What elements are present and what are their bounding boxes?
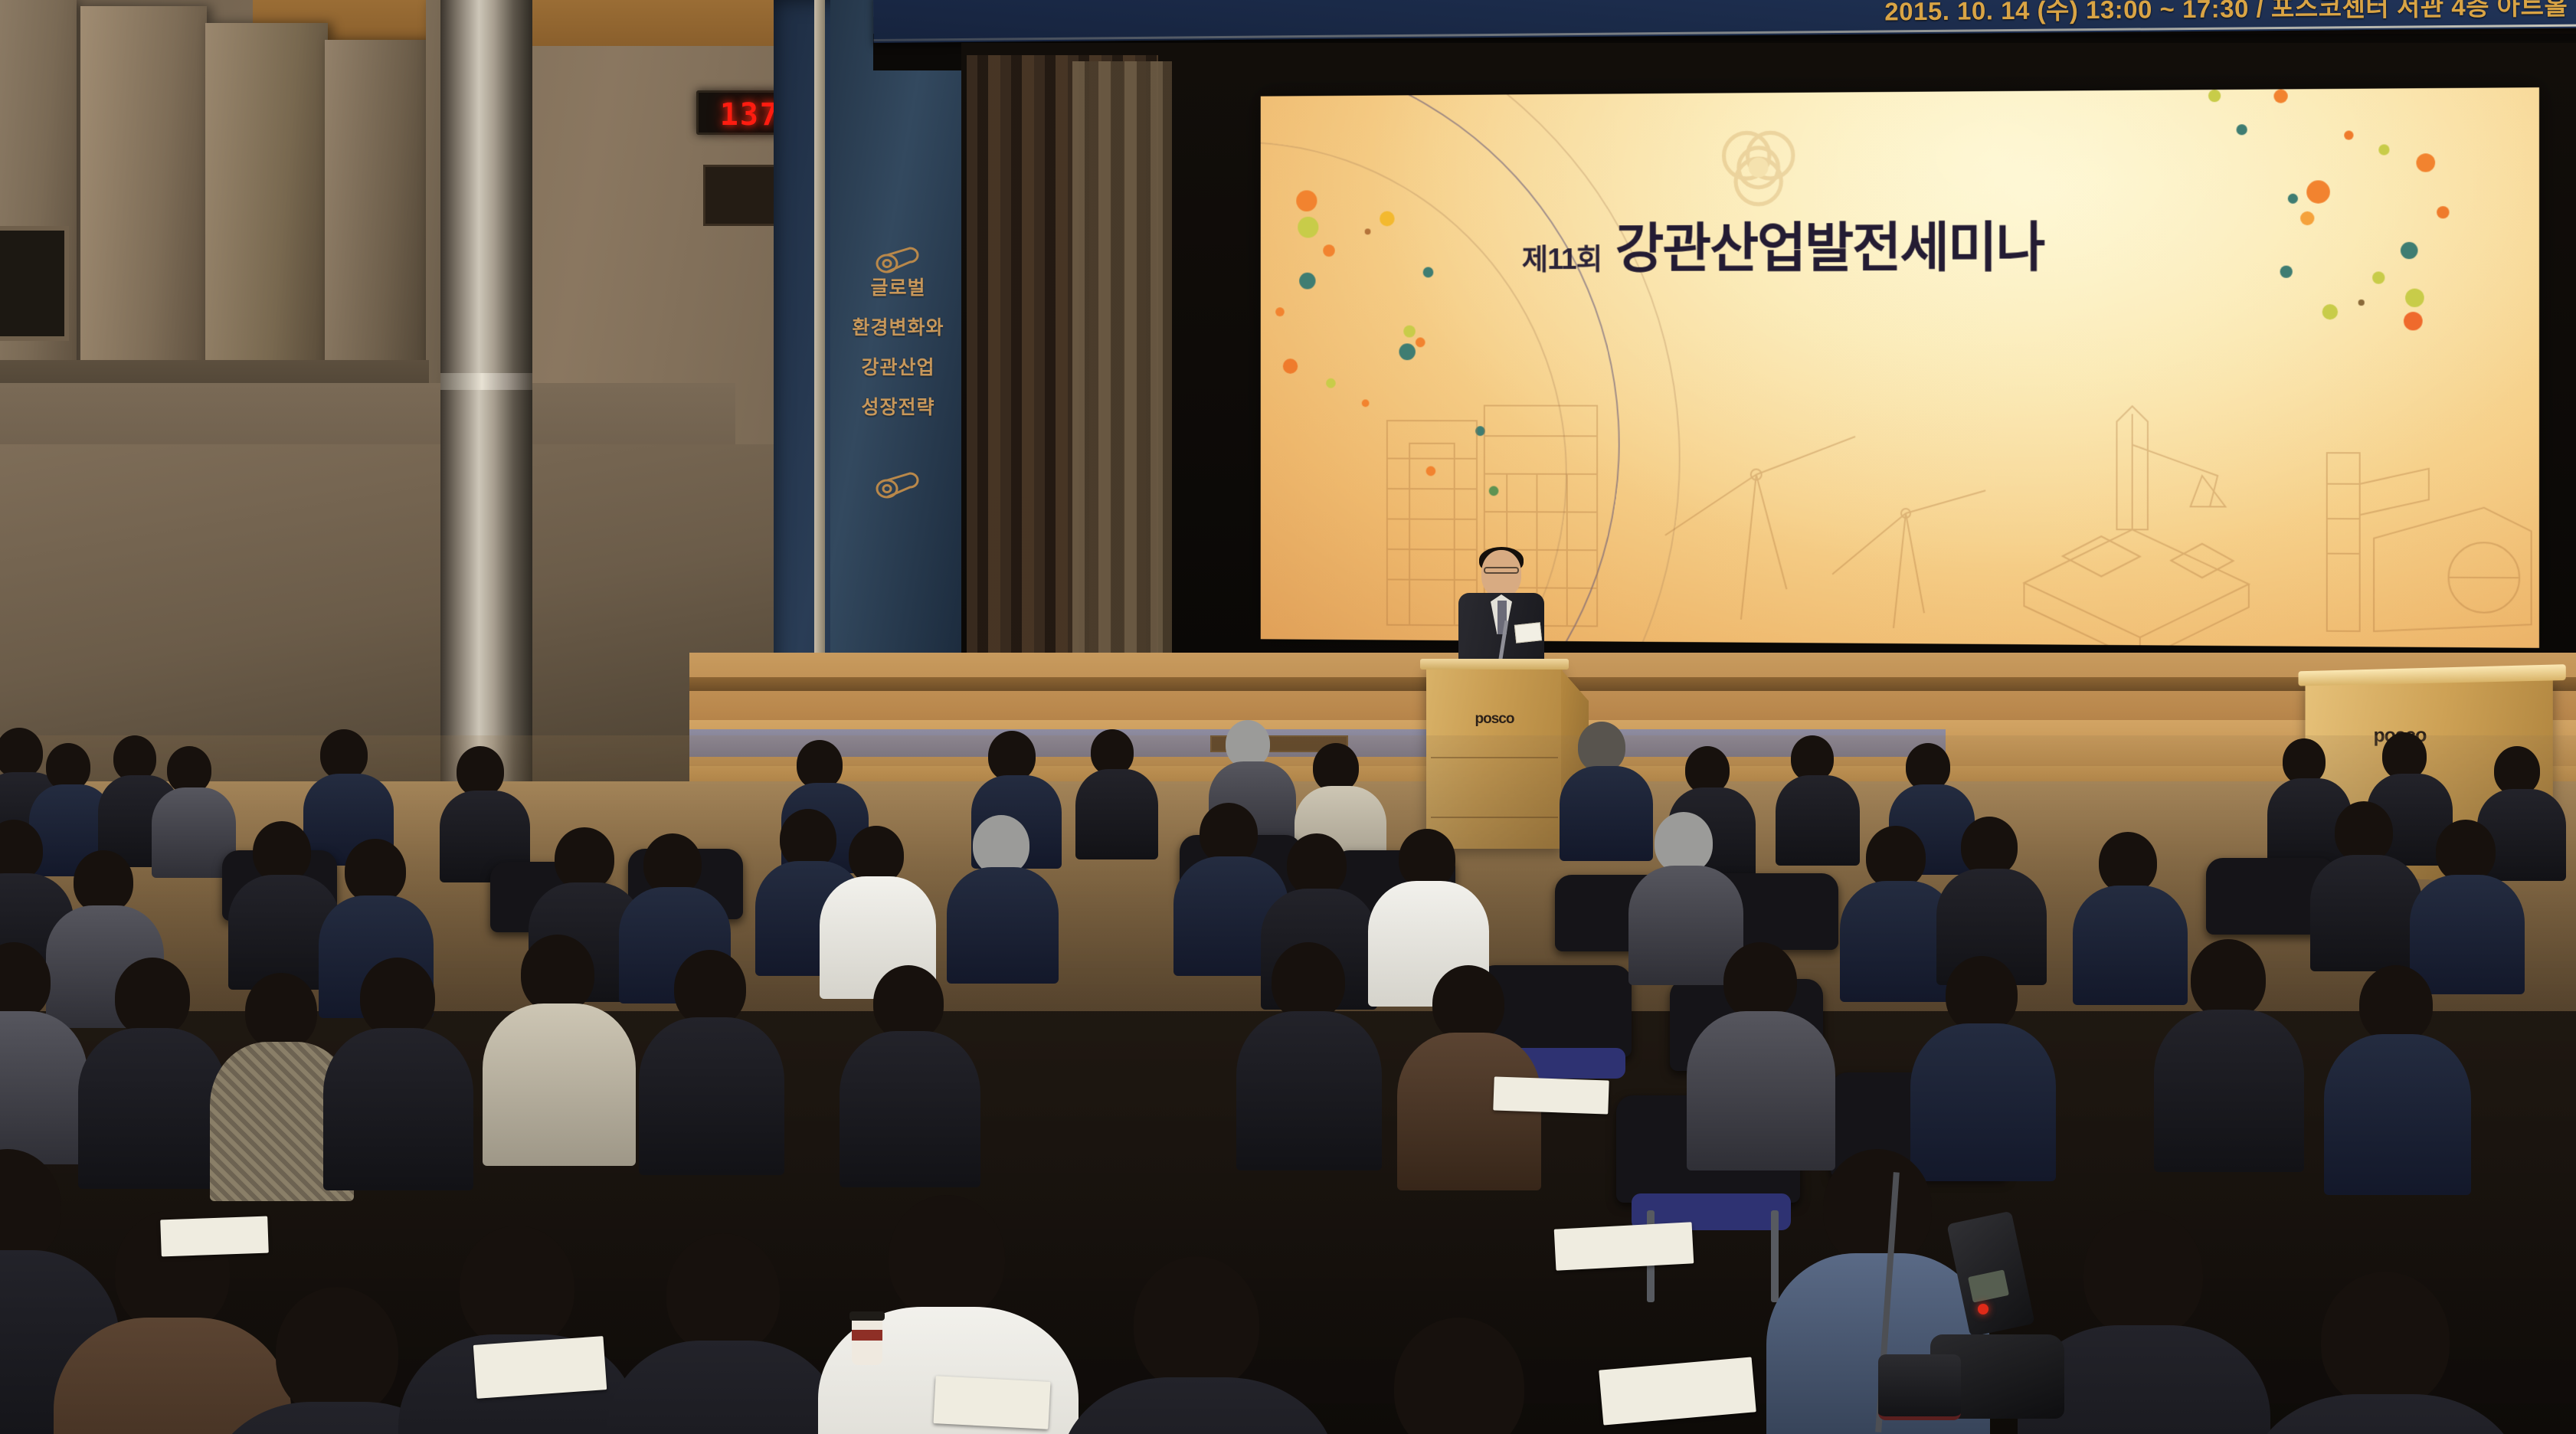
accent-dot [1275, 307, 1285, 316]
steel-column [440, 0, 532, 789]
presenter-head [1481, 550, 1521, 597]
accent-dot [1423, 267, 1434, 278]
dslr-camera-lens [1878, 1354, 1961, 1420]
flash-af-lamp-icon [1978, 1304, 1988, 1314]
accent-dot [2273, 89, 2287, 103]
accent-dot [2404, 312, 2423, 330]
banner-line-1: 글로벌 [835, 268, 961, 308]
accent-dot [1323, 244, 1335, 257]
accent-dot [1380, 211, 1394, 227]
vertical-banner-text: 글로벌 환경변화와 강관산업 성장전략 [835, 268, 961, 427]
glasses-icon [1484, 567, 1519, 574]
acoustic-panel [0, 0, 77, 406]
screen-title-prefix: 제11회 [1522, 235, 1602, 283]
coffee-cup-lid [849, 1311, 885, 1321]
projection-screen: 제11회 강관산업발전세미나 [1261, 87, 2539, 648]
led-clock-value: 137 [720, 97, 780, 133]
printed-handout [473, 1336, 607, 1399]
accent-dot [2208, 90, 2221, 102]
steel-column-band [440, 373, 532, 390]
screen-title-main: 강관산업발전세미나 [1615, 205, 2044, 283]
accent-dot [2372, 271, 2385, 283]
screen-title: 제11회 강관산업발전세미나 [1522, 204, 2288, 283]
steel-pipe-icon [875, 469, 921, 499]
accent-dot [1326, 378, 1336, 388]
accent-dot [1416, 337, 1425, 347]
accent-dot [1299, 273, 1315, 290]
name-badge [1514, 622, 1542, 643]
accent-dot [2405, 289, 2424, 307]
audience-area [0, 735, 2576, 1434]
accent-dot [2300, 211, 2314, 225]
accent-dot [2401, 242, 2418, 259]
accent-dot [1298, 217, 1318, 238]
event-banner-text: 2015. 10. 14 (수) 13:00 ~ 17:30 / 포스코센터 서… [1884, 0, 2568, 28]
printed-handout [1493, 1076, 1609, 1114]
podium-top [1420, 659, 1569, 670]
accent-dot [2378, 144, 2389, 155]
presenter [1455, 550, 1547, 673]
auditorium-photo: 137 글로벌 환경변화와 강관산업 성장전략 2015. 10. 14 (수)… [0, 0, 2576, 1434]
wall-lower [0, 444, 774, 781]
accent-dot [1296, 190, 1317, 211]
accent-dot [2322, 304, 2338, 319]
banner-line-2: 환경변화와 [835, 308, 961, 348]
stage-curtain-fold [1072, 61, 1172, 666]
accent-dot [2288, 194, 2298, 204]
printed-handout [160, 1216, 269, 1257]
accent-dot [1365, 228, 1371, 234]
accent-dot [2306, 180, 2330, 203]
accent-dot [1399, 343, 1415, 360]
accent-dot [1283, 358, 1298, 374]
chair-leg [1771, 1210, 1779, 1302]
fascia-edge-trim [814, 0, 825, 693]
accent-dot [2416, 153, 2435, 172]
podium-logo: posco [1475, 711, 1514, 728]
printed-handout [933, 1376, 1050, 1429]
coffee-cup [852, 1318, 882, 1365]
industrial-plant-lineart [1261, 391, 2539, 648]
accent-dot [2344, 130, 2353, 139]
printed-handout [1554, 1222, 1694, 1270]
wall-speaker-icon [0, 226, 69, 341]
banner-line-3: 강관산업 [835, 348, 961, 388]
accent-dot [2437, 206, 2449, 218]
accent-dot [2358, 300, 2365, 306]
accent-dot [1403, 326, 1416, 338]
accent-dot [2237, 124, 2247, 135]
banner-line-4: 성장전략 [835, 388, 961, 427]
stage-floor-edge [689, 677, 2576, 691]
